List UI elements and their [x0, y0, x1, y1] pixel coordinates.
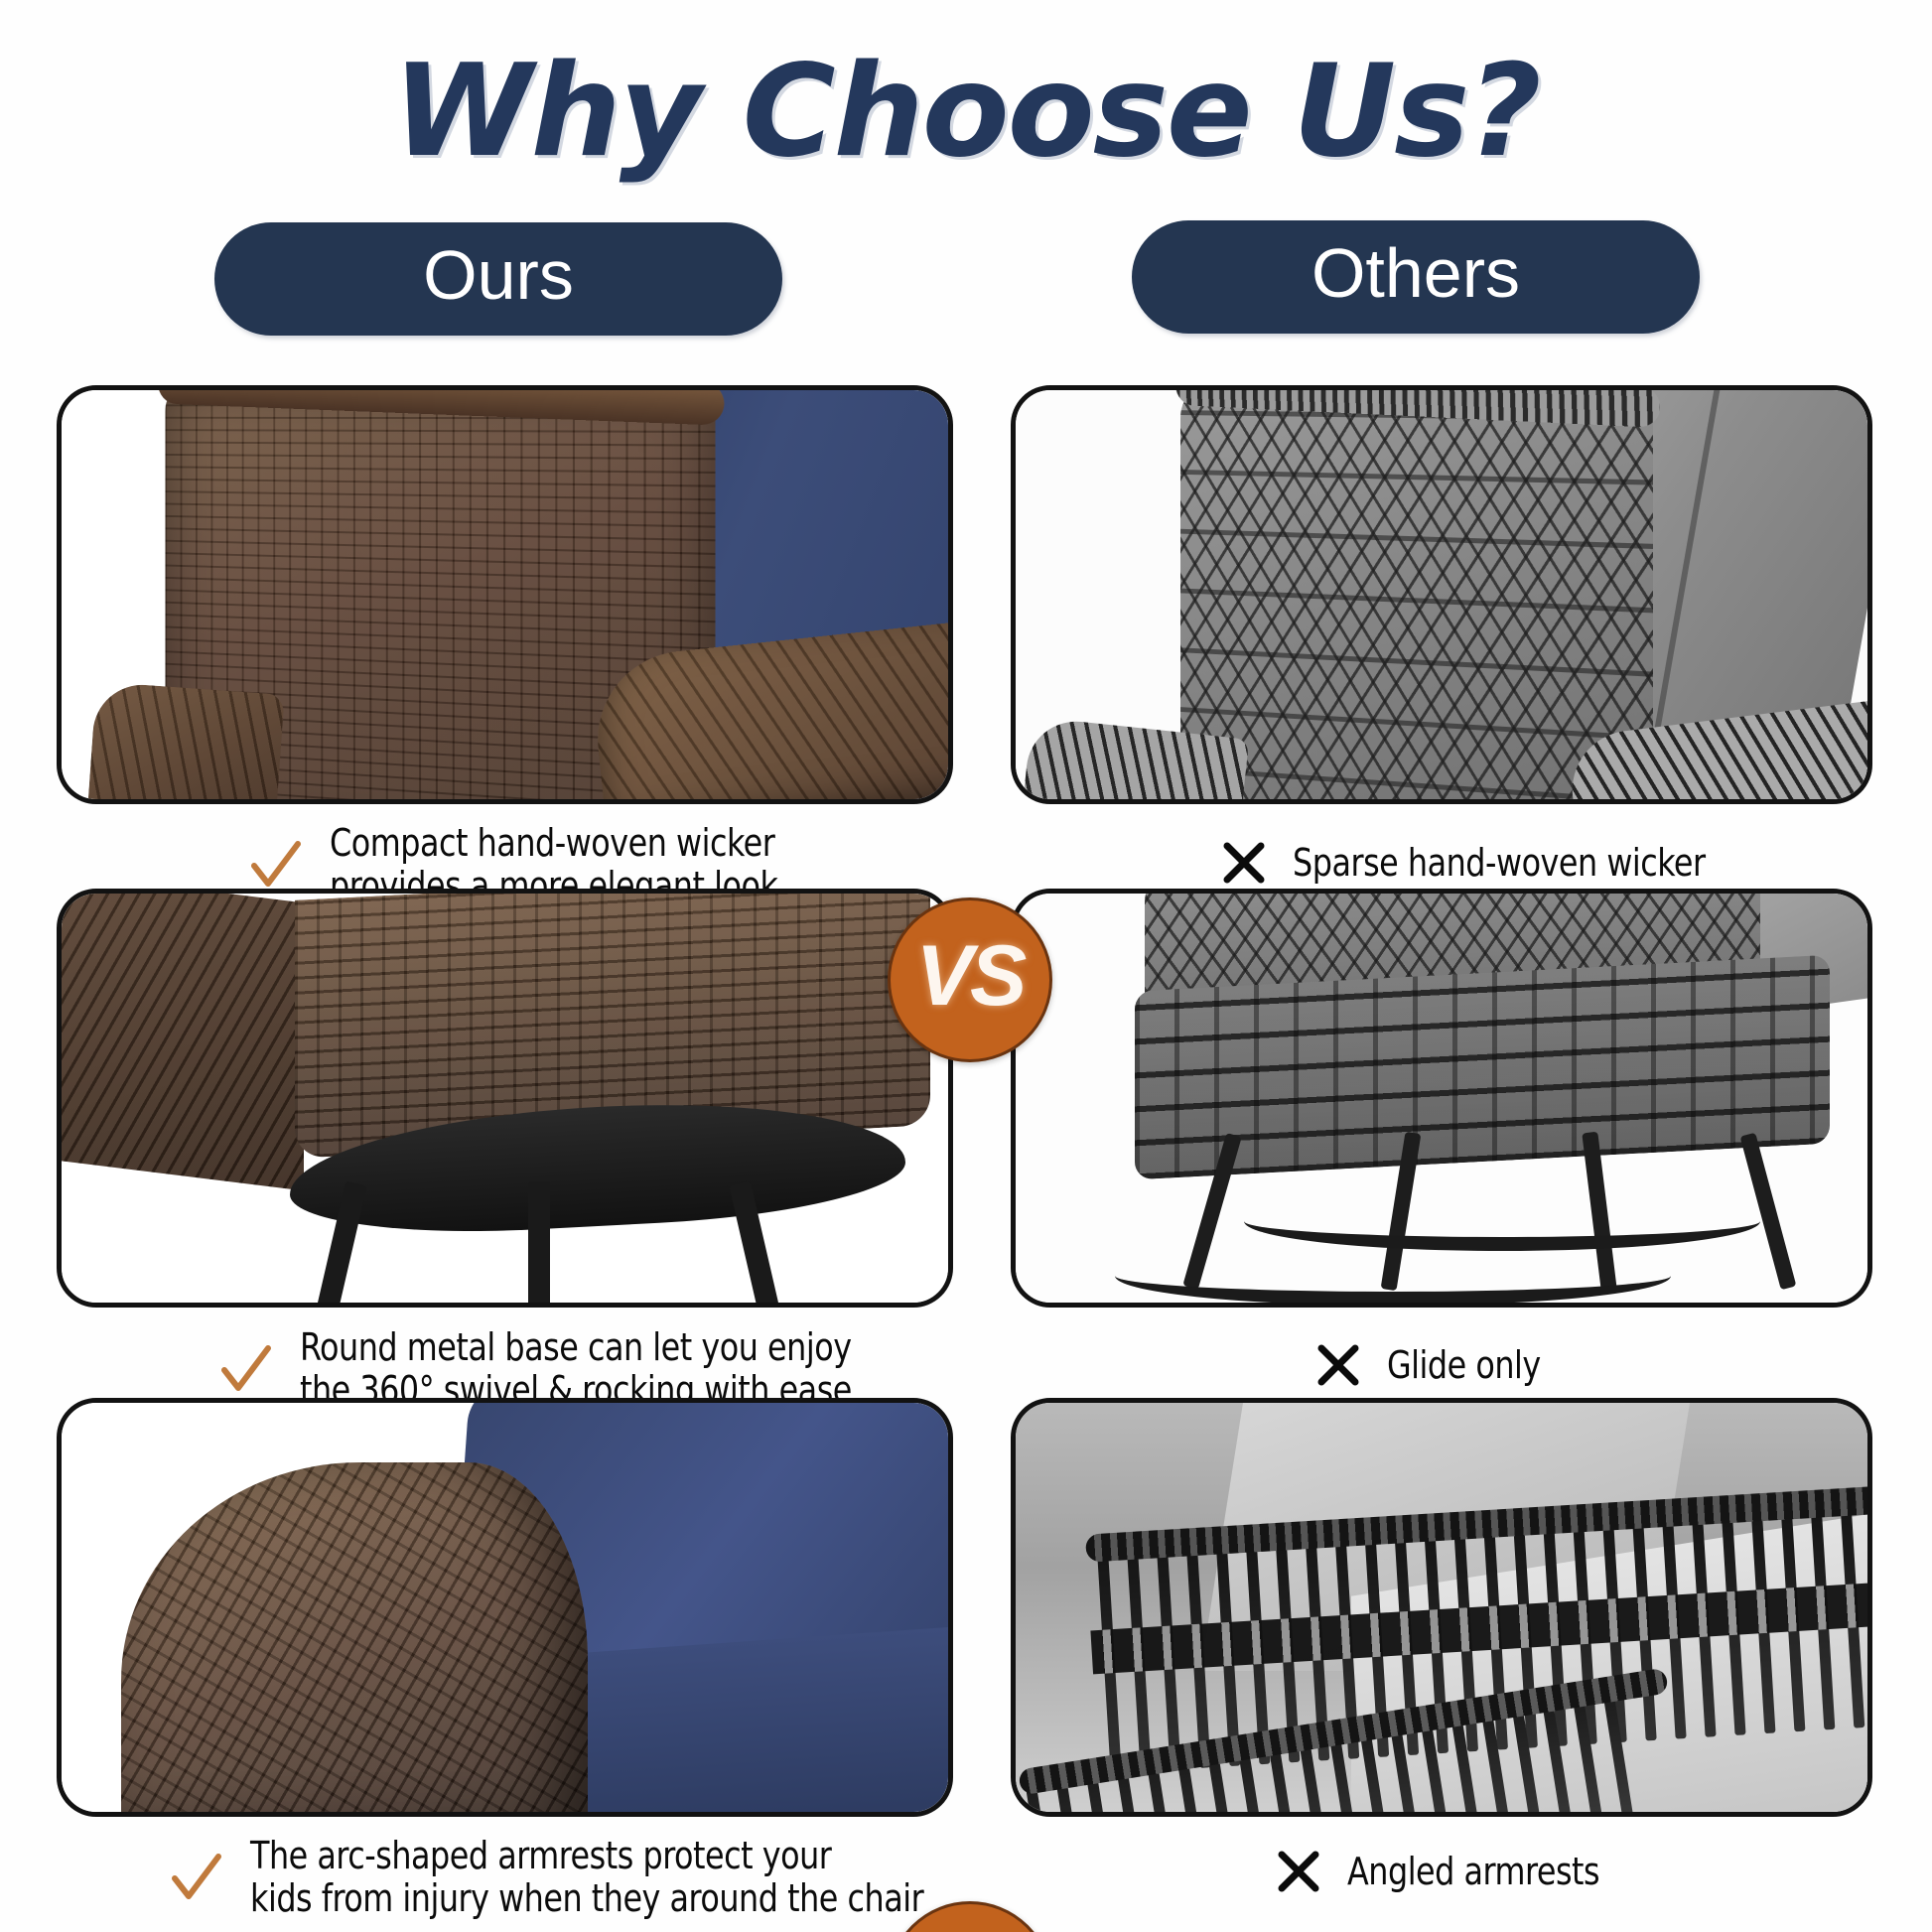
- glider-runner-back: [1244, 1191, 1760, 1251]
- column-header-ours: Ours: [214, 222, 782, 336]
- wicker-left-armrest: [86, 682, 284, 799]
- ours-caption-armrest: The arc-shaped armrests protect your kid…: [169, 1835, 974, 1919]
- others-glider-photo: [1016, 894, 1867, 1303]
- others-photo-card-wicker: [1011, 385, 1872, 804]
- ours-photo-card-armrest: [57, 1398, 953, 1817]
- column-header-ours-label: Ours: [423, 240, 574, 310]
- others-caption-wicker: Sparse hand-woven wicker: [1221, 840, 1736, 886]
- ours-arc-armrest-photo: [62, 1403, 948, 1812]
- check-icon: [248, 837, 304, 893]
- others-caption-armrest: Angled armrests: [1276, 1849, 1618, 1894]
- sparse-wicker-backrest: [1180, 390, 1653, 799]
- others-wicker-photo: [1016, 390, 1867, 799]
- ours-swivel-base-photo: [62, 894, 948, 1303]
- others-caption-base: Glide only: [1315, 1342, 1552, 1388]
- base-support-legs: [290, 1181, 846, 1303]
- cross-icon: [1276, 1849, 1321, 1894]
- infographic-page: Why Choose Us? Ours Others: [0, 0, 1932, 1932]
- vs-badge-label: VS: [916, 933, 1025, 1019]
- ours-wicker-photo: [62, 390, 948, 799]
- glider-runner-front: [1115, 1246, 1671, 1303]
- vs-badge-row-1: VS: [888, 897, 1052, 1062]
- ours-photo-card-base: [57, 889, 953, 1308]
- check-icon: [169, 1850, 224, 1905]
- others-caption-text: Angled armrests: [1347, 1851, 1599, 1893]
- others-caption-text: Sparse hand-woven wicker: [1293, 842, 1706, 885]
- ours-photo-card-wicker: [57, 385, 953, 804]
- check-icon: [218, 1341, 274, 1397]
- others-photo-card-armrest: [1011, 1398, 1872, 1817]
- cross-icon: [1315, 1342, 1361, 1388]
- others-photo-card-base: [1011, 889, 1872, 1308]
- column-header-others-label: Others: [1311, 238, 1520, 308]
- ours-caption-text: The arc-shaped armrests protect your kid…: [250, 1835, 923, 1919]
- column-header-others: Others: [1132, 220, 1700, 334]
- page-title: Why Choose Us?: [0, 38, 1932, 186]
- others-angled-armrest-photo: [1016, 1403, 1867, 1812]
- others-caption-text: Glide only: [1387, 1344, 1541, 1387]
- wicker-side-panel: [62, 894, 304, 1190]
- cross-icon: [1221, 840, 1267, 886]
